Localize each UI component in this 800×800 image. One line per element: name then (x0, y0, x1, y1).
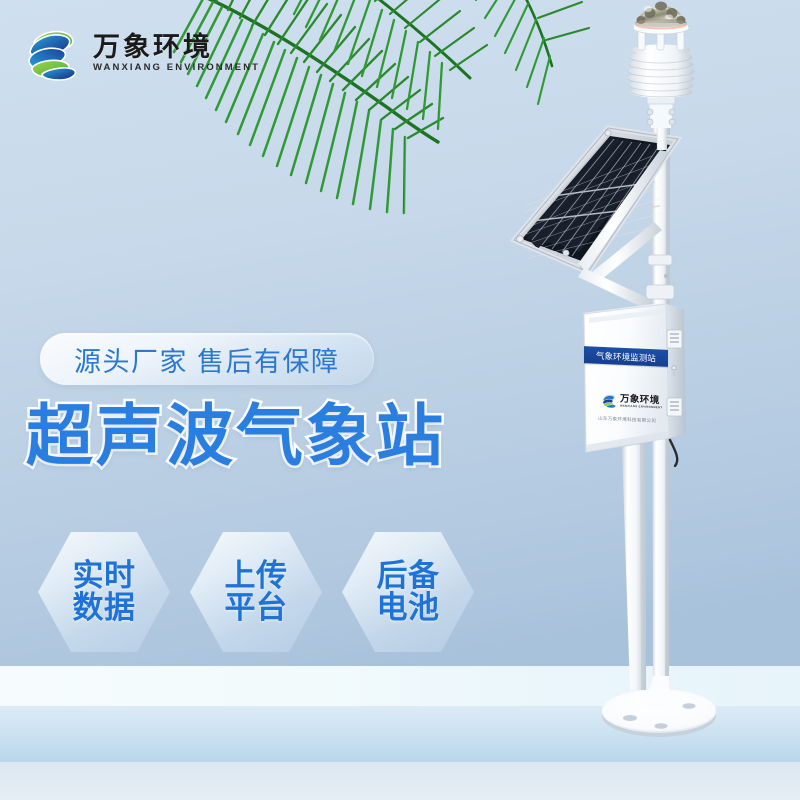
enclosure-latch-top (667, 330, 682, 348)
swirl-globe-icon (22, 22, 84, 84)
feature-line-2: 平台 (225, 590, 288, 625)
enclosure-logo-english: WANXIANG ENVIRONMENT (620, 404, 662, 409)
radiation-shield (628, 19, 694, 129)
logo-chinese-name: 万象环境 (93, 34, 260, 61)
feature-line-2: 电池 (377, 590, 440, 625)
logo-english-name: WANXIANG ENVIRONMENT (93, 63, 260, 73)
feature-line-2: 数据 (73, 590, 136, 625)
selling-point-text: 源头厂家 售后有保障 (74, 340, 340, 379)
feature-line-1: 上传 (225, 558, 288, 593)
page-title: 超声波气象站 (26, 402, 446, 472)
enclosure-banner-text: 气象环境监测站 (596, 349, 656, 364)
selling-point-badge: 源头厂家 售后有保障 (40, 333, 374, 385)
feature-label: 上传 平台 (225, 560, 288, 624)
brand-logo: 万象环境 WANXIANG ENVIRONMENT (22, 22, 260, 84)
control-enclosure (582, 303, 686, 466)
feature-label: 实时 数据 (73, 560, 136, 624)
product-image (470, 0, 800, 770)
sensor-cable (670, 440, 677, 466)
enclosure-latch-bottom (667, 398, 682, 416)
palm-frond-2 (294, 0, 487, 138)
feature-hexagons: 实时 数据 上传 平台 后备 电池 (38, 532, 474, 652)
feature-hex-realtime-data: 实时 数据 (38, 532, 170, 652)
feature-label: 后备 电池 (377, 560, 440, 624)
feature-line-1: 后备 (377, 558, 440, 593)
feature-hex-backup-battery: 后备 电池 (342, 532, 474, 652)
feature-hex-upload-platform: 上传 平台 (190, 532, 322, 652)
base-flange (602, 676, 716, 737)
product-poster: 万象环境 WANXIANG ENVIRONMENT 源头厂家 售后有保障 超声波… (0, 0, 800, 800)
feature-line-1: 实时 (73, 558, 136, 593)
ultrasonic-weather-sensor (635, 2, 687, 28)
swirl-globe-icon-small (601, 392, 618, 410)
enclosure-logo: 万象环境 WANXIANG ENVIRONMENT (601, 392, 662, 412)
